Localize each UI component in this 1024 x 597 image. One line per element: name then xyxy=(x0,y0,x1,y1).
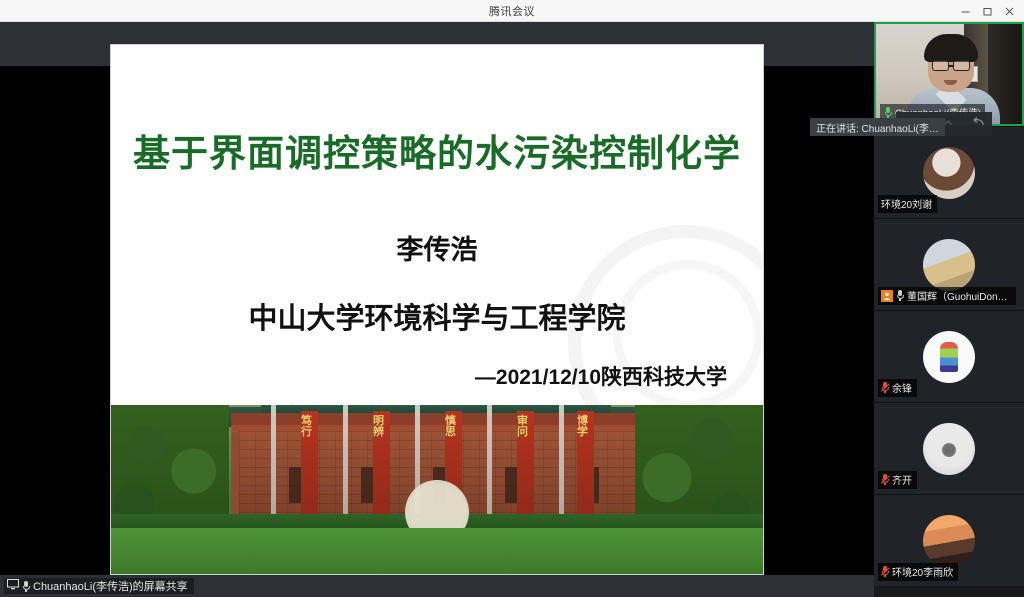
avatar xyxy=(923,147,975,199)
webcam-glasses-left xyxy=(932,60,949,71)
slide-organization: 中山大学环境科学与工程学院 xyxy=(111,295,763,337)
participant-name-badge: 余锋 xyxy=(878,379,917,397)
banner-char: 笃行 xyxy=(301,415,318,437)
participant-name: 环境20刘谢 xyxy=(881,196,932,211)
speaking-tooltip-text: 正在讲话: ChuanhaoLi(李… xyxy=(816,120,939,135)
participant-video-rail[interactable]: ChuanhaoLi(李传浩) 环境20刘谢 xyxy=(874,22,1024,597)
slide-author: 李传浩 xyxy=(111,228,763,267)
avatar xyxy=(923,331,975,383)
participant-name-badge: 环境20李雨欣 xyxy=(878,563,958,581)
slide-text-area: 基于界面调控策略的水污染控制化学 李传浩 中山大学环境科学与工程学院 —2021… xyxy=(111,45,763,407)
close-icon[interactable] xyxy=(998,1,1020,21)
microphone-icon xyxy=(22,581,30,592)
window-title: 腾讯会议 xyxy=(489,3,535,19)
avatar xyxy=(923,239,975,291)
microphone-icon xyxy=(896,290,904,301)
photo-banner: 审问 xyxy=(517,411,534,517)
webcam-glasses-right xyxy=(953,60,970,71)
tencent-meeting-window: 腾讯会议 基于界面调控策略的水污染控制化学 李传浩 中山大学环境科学与工程学院 … xyxy=(0,0,1024,597)
participant-tile-chuanhaoli[interactable]: ChuanhaoLi(李传浩) xyxy=(874,22,1024,126)
participant-name-badge: 环境20刘谢 xyxy=(878,195,937,213)
slide-campus-photo: 笃行 明辨 慎思 审问 博学 xyxy=(111,405,763,574)
avatar-default-figure xyxy=(942,443,956,457)
avatar xyxy=(923,423,975,475)
expand-icon[interactable] xyxy=(972,117,985,131)
maximize-icon[interactable] xyxy=(976,1,998,21)
microphone-icon xyxy=(884,107,892,118)
banner-char: 博学 xyxy=(577,415,594,437)
participant-name: 齐开 xyxy=(892,472,912,487)
avatar xyxy=(923,515,975,567)
participant-name: 余锋 xyxy=(892,380,912,395)
monitor-icon xyxy=(7,577,19,595)
participant-tile-guohuidong[interactable]: 董国辉（GuohuiDong） xyxy=(874,218,1024,310)
photo-banner: 明辨 xyxy=(373,411,390,517)
participant-name: 环境20李雨欣 xyxy=(892,564,953,579)
microphone-muted-icon xyxy=(881,474,889,485)
participant-tile-yufeng[interactable]: 余锋 xyxy=(874,310,1024,402)
photo-banner: 博学 xyxy=(577,411,594,517)
participant-tile-huanjing20liuxie[interactable]: 环境20刘谢 xyxy=(874,126,1024,218)
host-badge-icon xyxy=(881,290,893,302)
participant-name-badge: 齐开 xyxy=(878,471,917,489)
window-controls xyxy=(954,0,1020,22)
slide-date-venue: —2021/12/10陕西科技大学 xyxy=(475,361,727,391)
shared-slide[interactable]: 基于界面调控策略的水污染控制化学 李传浩 中山大学环境科学与工程学院 —2021… xyxy=(110,44,764,575)
screen-share-indicator[interactable]: ChuanhaoLi(李传浩)的屏幕共享 xyxy=(4,578,194,594)
photo-banner: 笃行 xyxy=(301,411,318,517)
photo-lawn xyxy=(111,528,763,574)
participant-name-badge: 董国辉（GuohuiDong） xyxy=(878,287,1016,305)
speaking-tooltip: 正在讲话: ChuanhaoLi(李… xyxy=(810,118,945,136)
avatar-cartoon-figure xyxy=(940,342,958,372)
banner-char: 慎思 xyxy=(445,415,462,437)
minimize-icon[interactable] xyxy=(954,1,976,21)
window-titlebar: 腾讯会议 xyxy=(0,0,1024,22)
screen-share-label: ChuanhaoLi(李传浩)的屏幕共享 xyxy=(33,578,188,594)
participant-tile-huanjing20liyuxin[interactable]: 环境20李雨欣 xyxy=(874,494,1024,586)
webcam-glasses-bridge xyxy=(949,65,953,67)
screen-share-status-bar: ChuanhaoLi(李传浩)的屏幕共享 xyxy=(0,575,874,597)
microphone-muted-icon xyxy=(881,382,889,393)
banner-char: 审问 xyxy=(517,415,534,437)
participant-tile-qikai[interactable]: 齐开 xyxy=(874,402,1024,494)
participant-name: 董国辉（GuohuiDong） xyxy=(907,288,1011,303)
slide-title: 基于界面调控策略的水污染控制化学 xyxy=(111,123,763,177)
banner-char: 明辨 xyxy=(373,415,390,437)
microphone-muted-icon xyxy=(881,566,889,577)
